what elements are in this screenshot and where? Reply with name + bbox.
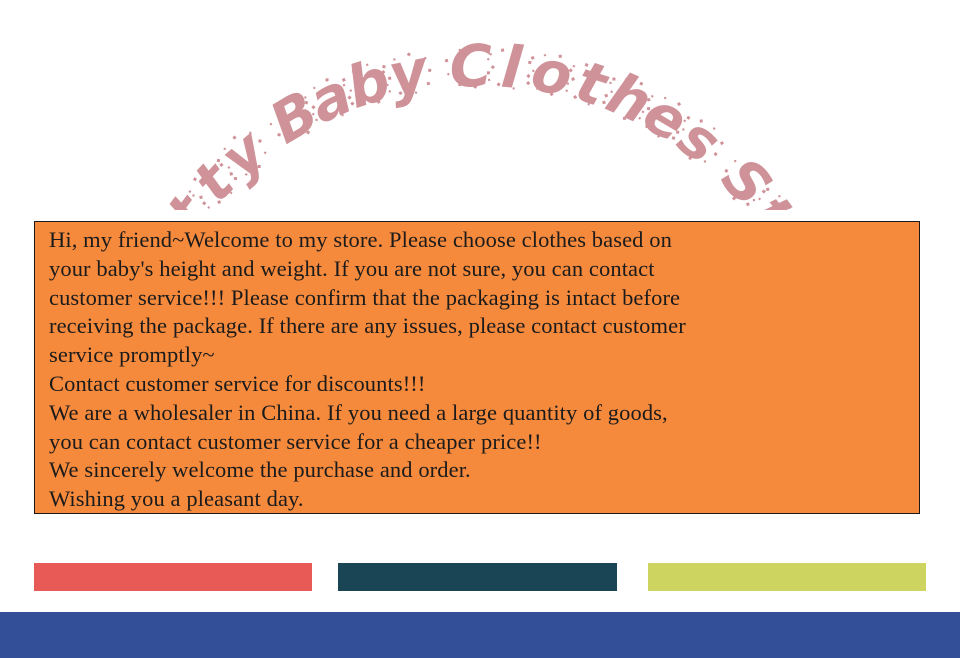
color-swatch-teal [338, 563, 617, 591]
arc-letter-group: PrettyBabyClothesStore [95, 31, 865, 210]
svg-text:b: b [339, 46, 398, 121]
svg-text:t: t [568, 48, 617, 120]
notice-text: Hi, my friend~Welcome to my store. Pleas… [49, 226, 949, 514]
svg-text:o: o [526, 37, 578, 110]
svg-text:t: t [154, 182, 224, 210]
color-swatch-lime [648, 563, 926, 591]
svg-text:S: S [709, 146, 784, 210]
svg-text:h: h [597, 60, 661, 137]
svg-text:y: y [209, 117, 281, 192]
store-title-wordart: PrettyBabyClothesStore [0, 0, 960, 210]
color-swatch-red [34, 563, 312, 591]
svg-text:l: l [499, 33, 526, 103]
svg-text:e: e [632, 79, 699, 155]
store-title-banner: PrettyBabyClothesStore Pretty Baby Cloth… [0, 0, 960, 210]
svg-text:y: y [383, 36, 435, 110]
svg-text:B: B [259, 78, 330, 157]
svg-text:C: C [449, 32, 493, 101]
footer-bar [0, 612, 960, 658]
svg-text:a: a [300, 61, 362, 137]
svg-text:t: t [181, 149, 248, 210]
page-canvas: PrettyBabyClothesStore Pretty Baby Cloth… [0, 0, 960, 658]
svg-text:t: t [738, 184, 808, 210]
svg-text:s: s [666, 105, 732, 177]
